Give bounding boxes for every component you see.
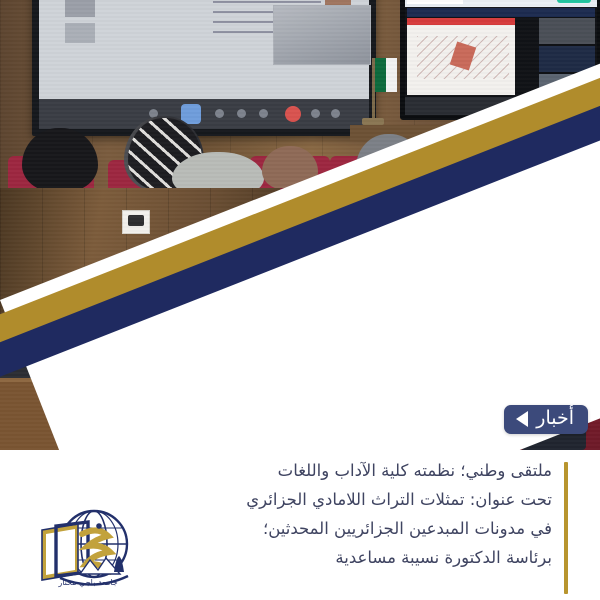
triangle-left-icon (516, 411, 528, 427)
logo-caption: جامعة باجي مختار (28, 578, 148, 592)
university-emblem: جامعة باجي مختار (28, 500, 148, 600)
news-line-4: برئاسة الدكتورة نسيبة مساعدية (122, 543, 552, 572)
news-line-2: تحت عنوان: تمثلات التراث اللامادي الجزائ… (122, 485, 552, 514)
news-badge-label: أخبار (536, 409, 574, 428)
news-line-1: ملتقى وطني؛ نظمته كلية الآداب واللغات (122, 456, 552, 485)
news-body-text: ملتقى وطني؛ نظمته كلية الآداب واللغات تح… (122, 456, 552, 572)
news-poster: أخبار ملتقى وطني؛ نظمته كلية الآداب والل… (0, 0, 600, 600)
news-line-3: في مدونات المبدعين الجزائريين المحدثين؛ (122, 514, 552, 543)
news-badge[interactable]: أخبار (504, 405, 588, 434)
gold-accent-rule (564, 462, 568, 594)
